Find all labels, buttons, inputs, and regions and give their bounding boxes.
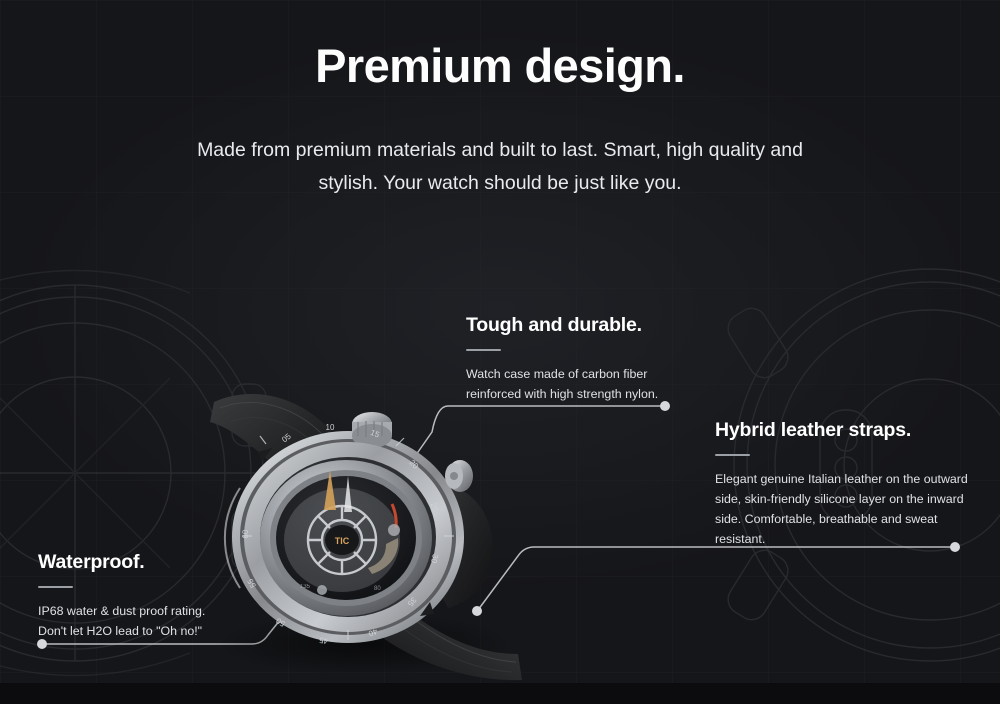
callout-body-strap: Elegant genuine Italian leather on the o… [715,469,977,549]
callout-divider-strap [715,454,750,456]
callout-divider-tough [466,349,501,351]
bottom-band [0,683,1000,704]
callout-body-waterproof-line-1: IP68 water & dust proof rating. [38,601,268,621]
svg-text:80: 80 [374,586,381,592]
callout-tough-and-durable: Tough and durable. Watch case made of ca… [466,314,696,404]
subtitle-line-2: stylish. Your watch should be just like … [318,172,681,194]
dial-logo: TIC [335,536,350,546]
callout-divider-waterproof [38,586,73,588]
subtitle-line-1: Made from premium materials and built to… [197,139,803,161]
svg-text:45: 45 [318,635,329,645]
svg-text:60: 60 [241,529,250,539]
callout-heading-strap: Hybrid leather straps. [715,419,977,442]
callout-body-tough: Watch case made of carbon fiber reinforc… [466,364,696,404]
connector-line-strap [478,547,953,610]
page-subtitle: Made from premium materials and built to… [170,134,830,200]
premium-design-section: Premium design. Made from premium materi… [0,0,1000,704]
callout-body-waterproof-line-2: Don't let H2O lead to "Oh no!" [38,621,268,641]
callout-waterproof: Waterproof. IP68 water & dust proof rati… [38,551,268,641]
callout-heading-tough: Tough and durable. [466,314,696,337]
callout-hybrid-leather-straps: Hybrid leather straps. Elegant genuine I… [715,419,977,549]
page-title: Premium design. [0,38,1000,93]
callout-heading-waterproof: Waterproof. [38,551,268,574]
svg-text:10: 10 [326,423,335,432]
svg-text:135: 135 [300,584,311,590]
